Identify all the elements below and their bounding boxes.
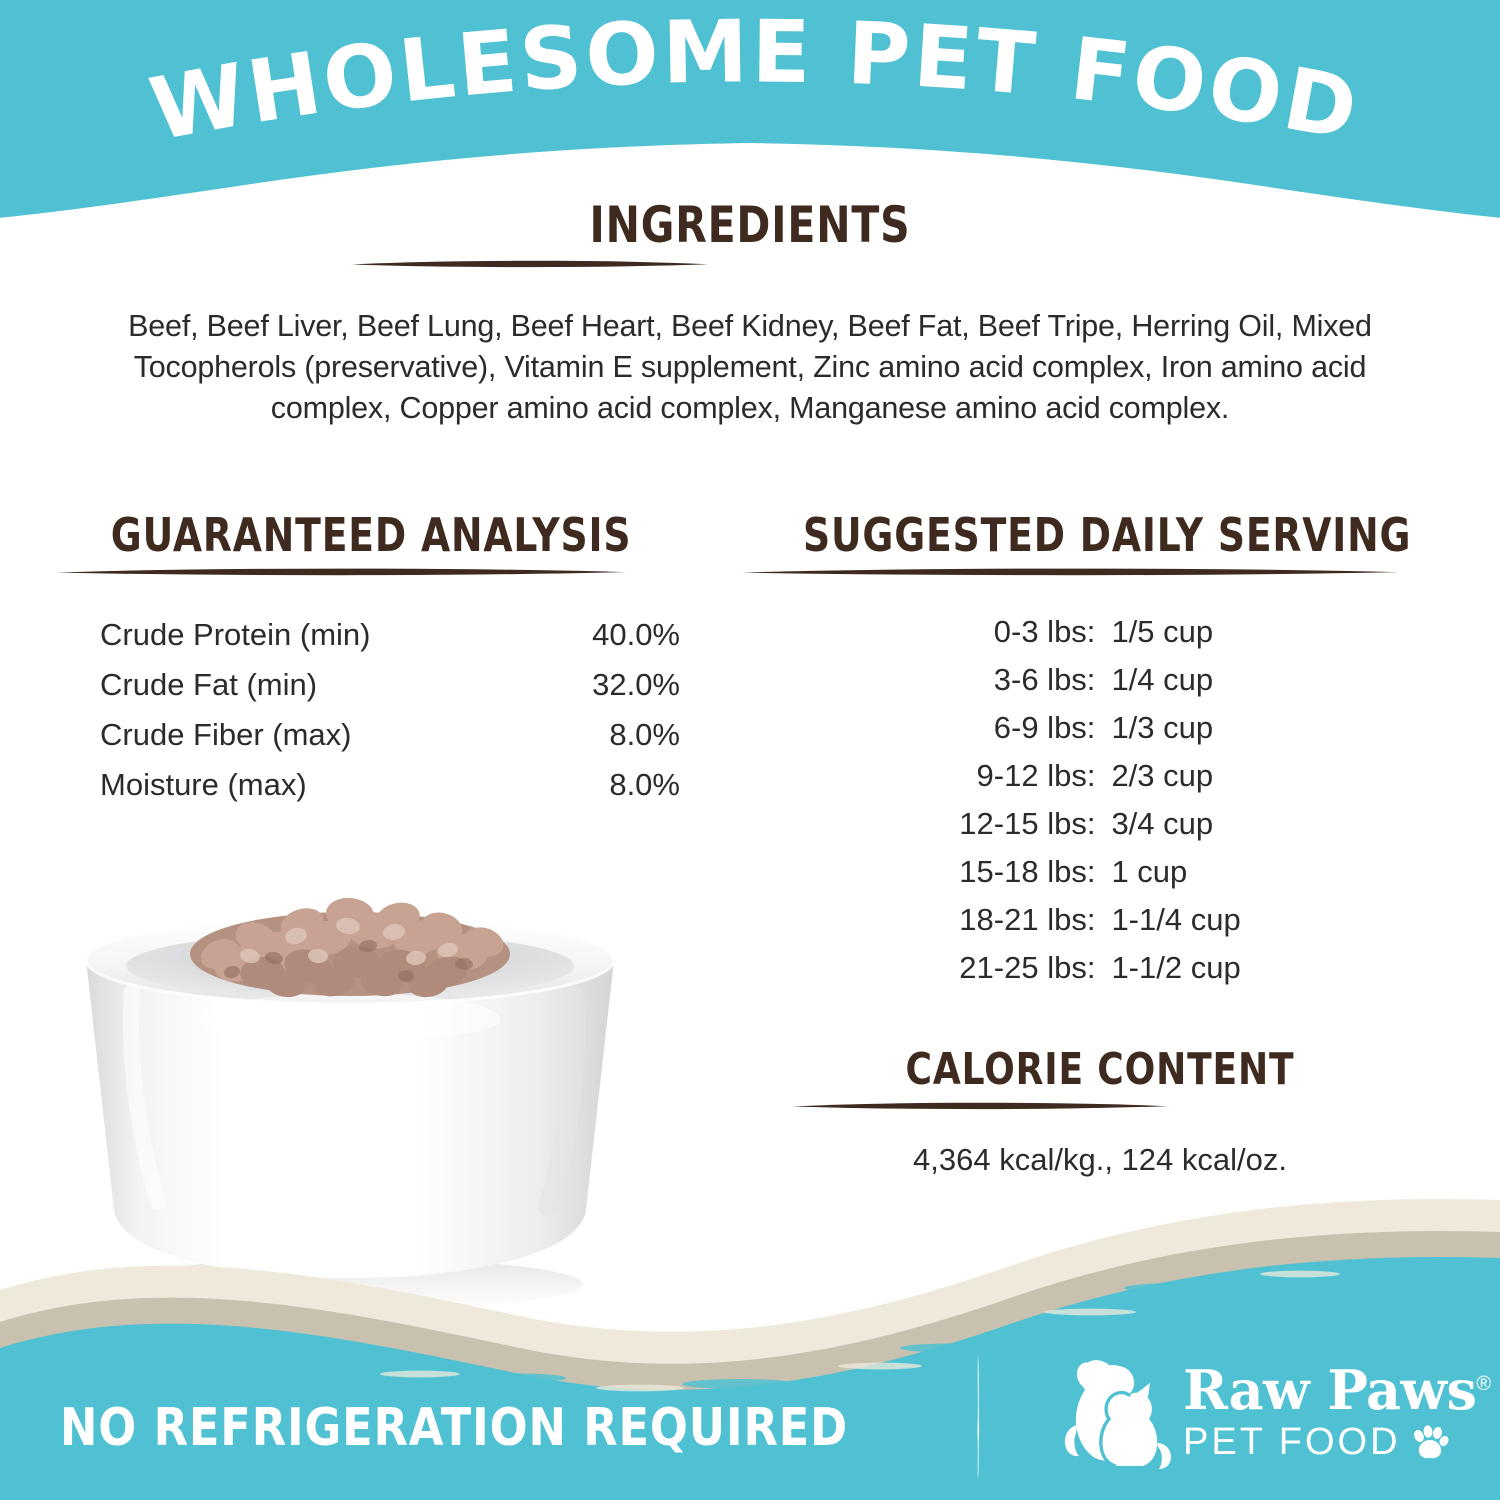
- guaranteed-analysis-underline: [55, 567, 675, 576]
- ingredients-heading-text: INGREDIENTS: [422, 200, 1078, 250]
- serving-amount: 1/3 cup: [1111, 704, 1240, 752]
- serving-range: 15-18 lbs:: [959, 848, 1111, 896]
- pet-food-label-page: WHOLESOME PET FOOD INGREDIENTS Beef, Bee…: [0, 0, 1500, 1500]
- table-row: 3-6 lbs: 1/4 cup: [959, 656, 1240, 704]
- calorie-content-underline: [790, 1101, 1410, 1110]
- registered-trademark-icon: ®: [1476, 1373, 1490, 1395]
- ga-label: Moisture (max): [100, 760, 530, 810]
- ga-label: Crude Protein (min): [100, 610, 530, 660]
- table-row: 6-9 lbs: 1/3 cup: [959, 704, 1240, 752]
- banner-title-text: WHOLESOME PET FOOD: [143, 2, 1367, 161]
- serving-range: 3-6 lbs:: [959, 656, 1111, 704]
- table-row: Crude Protein (min) 40.0%: [100, 610, 680, 660]
- paw-print-icon: [1411, 1425, 1449, 1461]
- suggested-daily-serving-underline: [740, 567, 1440, 576]
- ingredients-body-text: Beef, Beef Liver, Beef Lung, Beef Heart,…: [100, 306, 1400, 429]
- brand-name: Raw Paws®: [1183, 1355, 1483, 1419]
- footer-divider: [975, 1352, 981, 1482]
- banner-title: WHOLESOME PET FOOD: [0, 0, 1500, 180]
- brand-subtitle-row: PET FOOD: [1183, 1421, 1483, 1464]
- ga-label: Crude Fiber (max): [100, 710, 530, 760]
- table-row: 21-25 lbs: 1-1/2 cup: [959, 944, 1240, 992]
- ga-value: 8.0%: [530, 710, 680, 760]
- brand-wordmark: Raw Paws® PET FOOD: [1183, 1355, 1483, 1464]
- brand-name-text: Raw Paws: [1183, 1358, 1476, 1422]
- table-row: 0-3 lbs: 1/5 cup: [959, 608, 1240, 656]
- suggested-daily-serving-table: 0-3 lbs: 1/5 cup 3-6 lbs: 1/4 cup 6-9 lb…: [790, 608, 1410, 992]
- serving-range: 0-3 lbs:: [959, 608, 1111, 656]
- serving-amount: 2/3 cup: [1111, 752, 1240, 800]
- brand-subtitle: PET FOOD: [1183, 1421, 1401, 1464]
- serving-range: 6-9 lbs:: [959, 704, 1111, 752]
- guaranteed-analysis-heading: GUARANTEED ANALYSIS: [55, 512, 675, 576]
- serving-range: 12-15 lbs:: [959, 800, 1111, 848]
- guaranteed-analysis-table: Crude Protein (min) 40.0% Crude Fat (min…: [100, 610, 680, 810]
- serving-range: 18-21 lbs:: [959, 896, 1111, 944]
- serving-amount: 1 cup: [1111, 848, 1240, 896]
- serving-range: 21-25 lbs:: [959, 944, 1111, 992]
- guaranteed-analysis-heading-text: GUARANTEED ANALYSIS: [111, 512, 619, 558]
- calorie-content-heading: CALORIE CONTENT: [790, 1048, 1410, 1110]
- table-row: 12-15 lbs: 3/4 cup: [959, 800, 1240, 848]
- calorie-content-heading-text: CALORIE CONTENT: [846, 1048, 1354, 1092]
- ga-value: 8.0%: [530, 760, 680, 810]
- svg-text:WHOLESOME PET FOOD: WHOLESOME PET FOOD: [143, 2, 1367, 161]
- table-row: Moisture (max) 8.0%: [100, 760, 680, 810]
- table-row: Crude Fat (min) 32.0%: [100, 660, 680, 710]
- serving-amount: 3/4 cup: [1111, 800, 1240, 848]
- serving-amount: 1-1/2 cup: [1111, 944, 1240, 992]
- serving-amount: 1/4 cup: [1111, 656, 1240, 704]
- serving-amount: 1/5 cup: [1111, 608, 1240, 656]
- ga-value: 40.0%: [530, 610, 680, 660]
- table-row: Crude Fiber (max) 8.0%: [100, 710, 680, 760]
- table-row: 9-12 lbs: 2/3 cup: [959, 752, 1240, 800]
- table-row: 18-21 lbs: 1-1/4 cup: [959, 896, 1240, 944]
- table-row: 15-18 lbs: 1 cup: [959, 848, 1240, 896]
- brand-logo: Raw Paws® PET FOOD: [1055, 1345, 1475, 1490]
- serving-amount: 1-1/4 cup: [1111, 896, 1240, 944]
- serving-range: 9-12 lbs:: [959, 752, 1111, 800]
- footer-tagline: NO REFRIGERATION REQUIRED: [60, 1398, 791, 1458]
- ingredients-underline: [350, 259, 1150, 268]
- ga-value: 32.0%: [530, 660, 680, 710]
- ingredients-heading: INGREDIENTS: [350, 200, 1150, 268]
- ga-label: Crude Fat (min): [100, 660, 530, 710]
- suggested-daily-serving-heading: SUGGESTED DAILY SERVING: [740, 512, 1440, 576]
- dog-cat-logo-icon: [1055, 1351, 1185, 1479]
- suggested-daily-serving-heading-text: SUGGESTED DAILY SERVING: [803, 512, 1377, 558]
